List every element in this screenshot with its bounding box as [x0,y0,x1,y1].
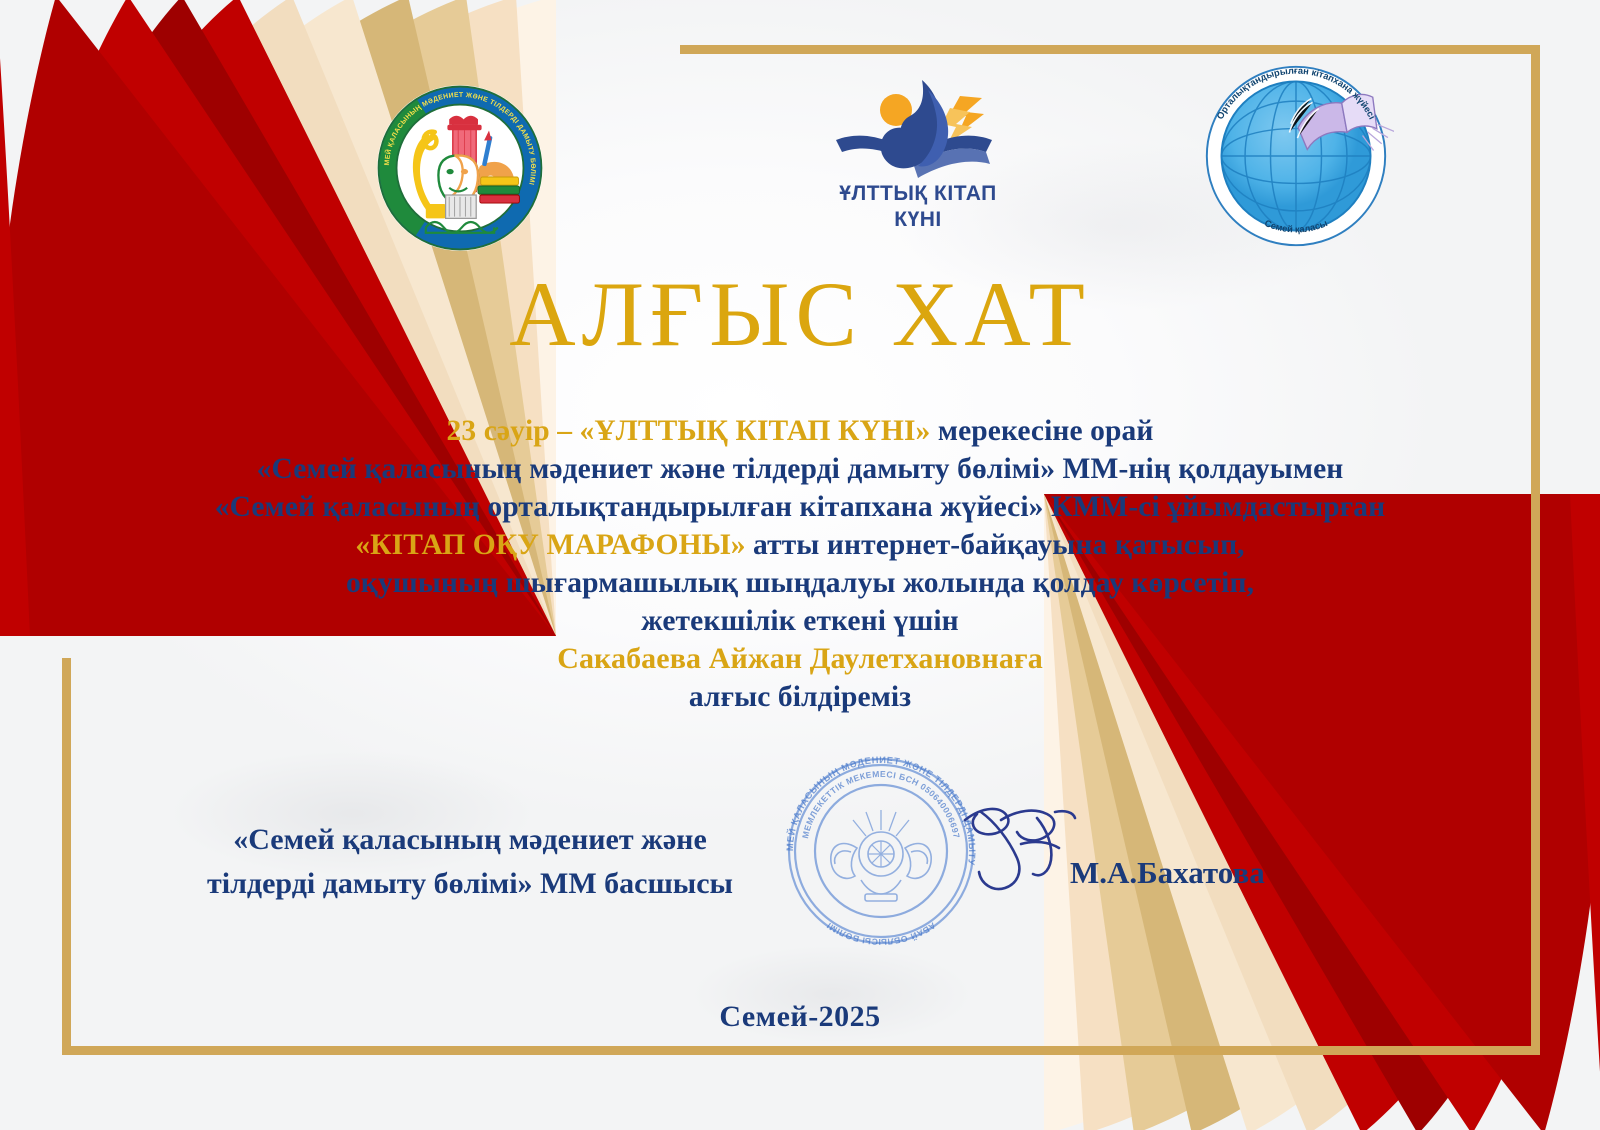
signatory-name: М.А.Бахатова [1070,855,1400,891]
frame-border-left [62,658,71,1055]
handwritten-signature-icon [955,800,1095,900]
body-line-1: 23 сәуір – «ҰЛТТЫҚ КІТАП КҮНІ» мерекесін… [60,412,1540,450]
body-line-3: «Семей қаласының орталықтандырылған кіта… [60,488,1540,526]
body-line-4: «КІТАП ОҚУ МАРАФОНЫ» атты интернет-байқа… [60,526,1540,564]
frame-border-bottom [62,1046,1540,1055]
certificate-canvas: СЕМЕЙ ҚАЛАСЫНЫҢ МӘДЕНИЕТ ЖӘНЕ ТІЛДЕРДІ Д… [0,0,1600,1130]
frame-border-top [680,45,1540,54]
recipient-name: Сакабаева Айжан Даулетхановнаға [60,640,1540,678]
body-line-8: алғыс білдіреміз [60,678,1540,716]
body-line-6: жетекшілік еткені үшін [60,602,1540,640]
culture-languages-department-emblem-icon: СЕМЕЙ ҚАЛАСЫНЫҢ МӘДЕНИЕТ ЖӘНЕ ТІЛДЕРДІ Д… [370,78,550,258]
body-line-1-gold: 23 сәуір – «ҰЛТТЫҚ КІТАП КҮНІ» [447,415,931,447]
certificate-title: АЛҒЫС ХАТ [0,268,1600,360]
body-line-4-blue: атты интернет-байқауына қатысып, [746,529,1245,561]
body-line-4-gold: «КІТАП ОҚУ МАРАФОНЫ» [355,529,745,561]
body-line-5: оқушының шығармашылық шыңдалуы жолында қ… [60,564,1540,602]
body-line-1-blue: мерекесіне орай [930,415,1153,447]
signatory-title: «Семей қаласының мәдениет және тілдерді … [130,818,810,906]
svg-text:ҰЛТТЫҚ КІТАП: ҰЛТТЫҚ КІТАП [839,182,996,205]
body-line-2: «Семей қаласының мәдениет және тілдерді … [60,450,1540,488]
signatory-title-line-2: тілдерді дамыту бөлімі» ММ басшысы [130,862,810,906]
svg-text:АБАЙ ОБЛЫСЫ БӨЛІМІ: АБАЙ ОБЛЫСЫ БӨЛІМІ [824,920,937,947]
certificate-footer: Семей-2025 [0,1000,1600,1034]
signatory-title-line-1: «Семей қаласының мәдениет және [130,818,810,862]
centralized-library-system-emblem-icon: Орталықтандырылған кітапхана жүйесі Семе… [1198,58,1394,254]
certificate-body: 23 сәуір – «ҰЛТТЫҚ КІТАП КҮНІ» мерекесін… [60,412,1540,716]
national-book-day-logo-icon: ҰЛТТЫҚ КІТАП КҮНІ [818,68,1018,238]
svg-text:КҮНІ: КҮНІ [894,208,942,231]
